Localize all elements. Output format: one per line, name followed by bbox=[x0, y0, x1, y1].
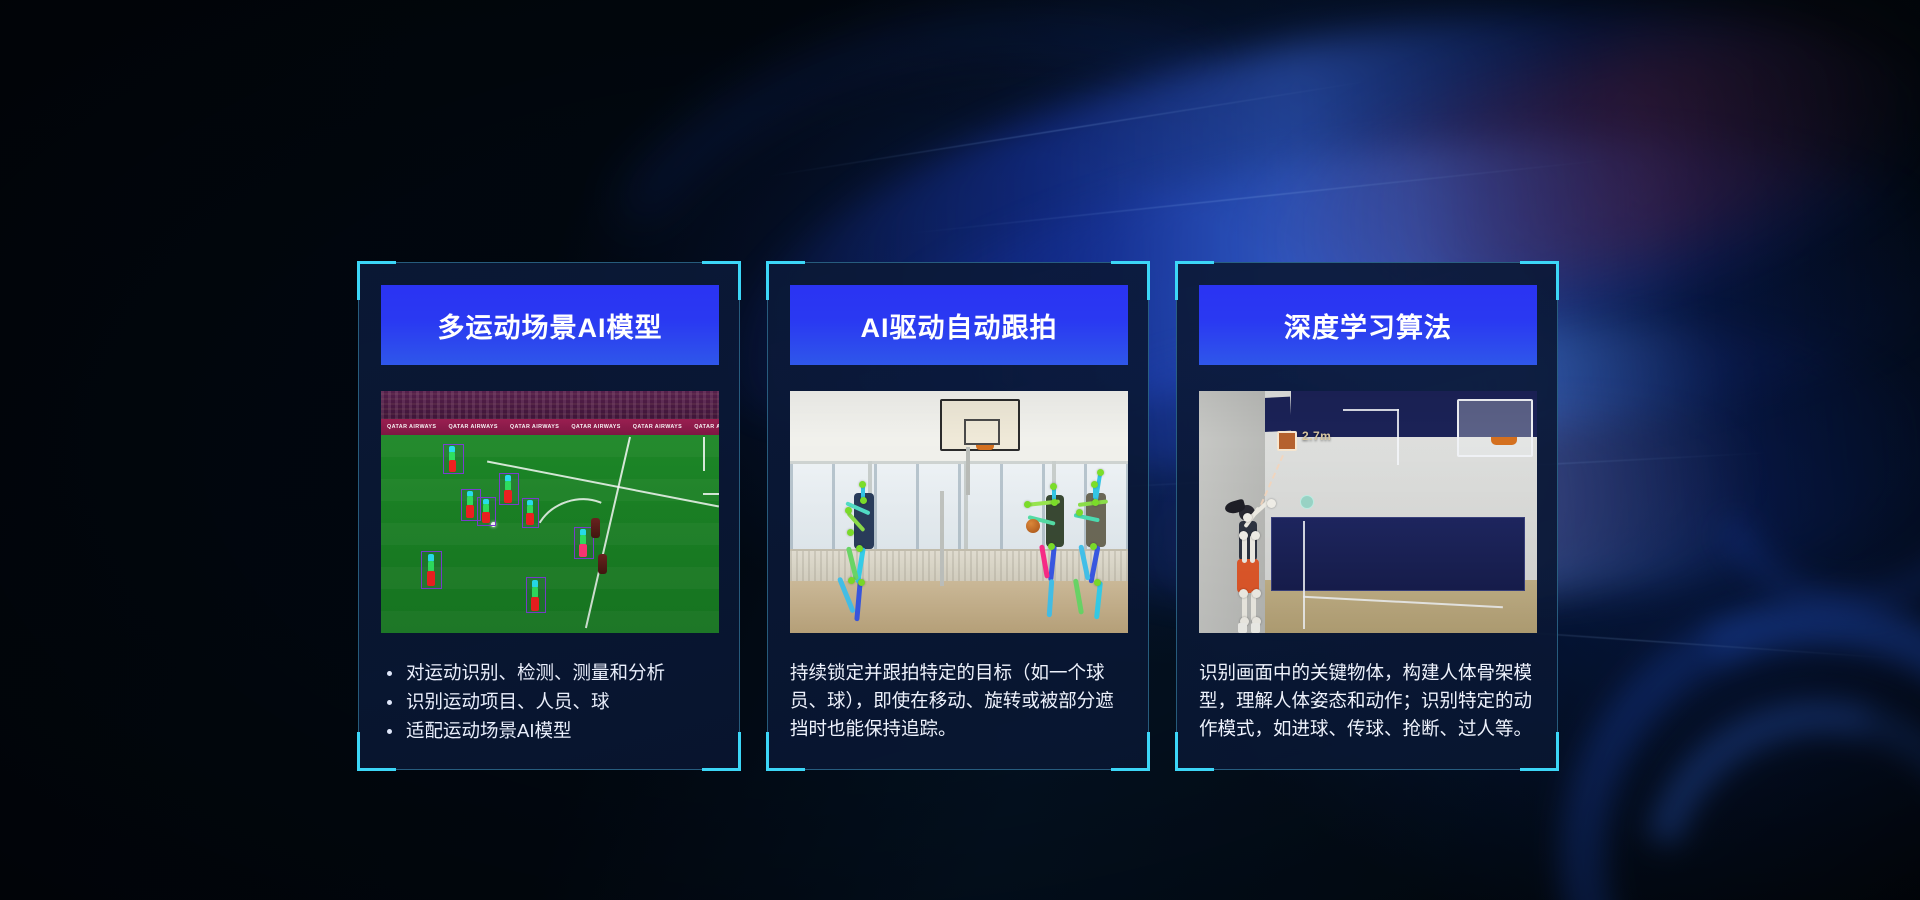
feature-bullet-list-1: 对运动识别、检测、测量和分析 识别运动项目、人员、球 适配运动场景AI模型 bbox=[381, 659, 719, 745]
sponsor-banner-text: QATAR AIRWAYS bbox=[688, 424, 719, 430]
feature-card-deep-learning-algorithm[interactable]: 深度学习算法 2.7m bbox=[1176, 262, 1558, 770]
sponsor-banner-text: QATAR AIRWAYS bbox=[381, 424, 442, 430]
sponsor-banner-text: QATAR AIRWAYS bbox=[442, 424, 503, 430]
pose-skeleton-shooter bbox=[1227, 495, 1279, 631]
undetected-player bbox=[598, 554, 607, 574]
pitch-line-box2 bbox=[703, 493, 719, 495]
list-item: 识别运动项目、人员、球 bbox=[381, 688, 719, 716]
pose-skeleton-player-a bbox=[836, 477, 896, 627]
secondary-target-marker bbox=[1300, 495, 1314, 509]
sponsor-banner: QATAR AIRWAYS QATAR AIRWAYS QATAR AIRWAY… bbox=[381, 419, 719, 435]
hoop-support-pole bbox=[940, 491, 944, 586]
undetected-player bbox=[591, 518, 600, 538]
tracking-guide-line bbox=[1397, 409, 1399, 465]
detection-box-player bbox=[522, 498, 539, 528]
feature-card-ai-auto-tracking[interactable]: AI驱动自动跟拍 bbox=[767, 262, 1149, 770]
feature-paragraph-3: 识别画面中的关键物体，构建人体骨架模型，理解人体姿态和动作；识别特定的动作模式，… bbox=[1199, 659, 1537, 743]
basketball-ball bbox=[1026, 519, 1040, 533]
feature-card-group: 多运动场景AI模型 QATAR AIRWAYS QATAR AIRWAYS QA… bbox=[0, 0, 1920, 900]
feature-card-multi-sport-ai-model[interactable]: 多运动场景AI模型 QATAR AIRWAYS QATAR AIRWAYS QA… bbox=[358, 262, 740, 770]
basketball-backboard-3 bbox=[1457, 399, 1533, 457]
list-item: 适配运动场景AI模型 bbox=[381, 717, 719, 745]
card-body-1: 对运动识别、检测、测量和分析 识别运动项目、人员、球 适配运动场景AI模型 bbox=[381, 659, 719, 745]
tracking-guide-line bbox=[1303, 521, 1305, 629]
distance-label: 2.7m bbox=[1302, 429, 1331, 443]
sponsor-banner-text: QATAR AIRWAYS bbox=[565, 424, 626, 430]
card-media-pose-skeleton-gym bbox=[790, 391, 1128, 633]
card-media-soccer-detection: QATAR AIRWAYS QATAR AIRWAYS QATAR AIRWAY… bbox=[381, 391, 719, 633]
basketball-hoop-3 bbox=[1491, 437, 1517, 445]
detection-box-player bbox=[443, 444, 464, 474]
target-box-ball bbox=[1277, 431, 1297, 451]
detection-box-player bbox=[421, 551, 442, 589]
tracking-guide-line bbox=[1343, 409, 1399, 411]
sponsor-banner-text: QATAR AIRWAYS bbox=[504, 424, 565, 430]
wall-pad-navy bbox=[1271, 517, 1525, 591]
card-media-shot-distance-tracking: 2.7m bbox=[1199, 391, 1537, 633]
feature-paragraph-2: 持续锁定并跟拍特定的目标（如一个球员、球），即使在移动、旋转或被部分遮挡时也能保… bbox=[790, 659, 1128, 743]
card-title-1: 多运动场景AI模型 bbox=[381, 285, 719, 365]
pose-skeleton-player-c bbox=[1070, 469, 1126, 627]
basketball-backboard bbox=[940, 399, 1020, 451]
pitch-line-box bbox=[703, 437, 705, 471]
pitch-stripe bbox=[381, 611, 719, 633]
backboard-square bbox=[964, 419, 1000, 445]
card-body-2: 持续锁定并跟拍特定的目标（如一个球员、球），即使在移动、旋转或被部分遮挡时也能保… bbox=[790, 659, 1128, 743]
card-title-3: 深度学习算法 bbox=[1199, 285, 1537, 365]
hoop-support-pole bbox=[966, 447, 970, 495]
basketball-hoop bbox=[976, 445, 994, 450]
sponsor-banner-text: QATAR AIRWAYS bbox=[627, 424, 688, 430]
pitch-stripe bbox=[381, 435, 719, 457]
card-body-3: 识别画面中的关键物体，构建人体骨架模型，理解人体姿态和动作；识别特定的动作模式，… bbox=[1199, 659, 1537, 743]
detection-box-player bbox=[499, 473, 519, 505]
detection-box-player bbox=[477, 497, 496, 526]
detection-box-player bbox=[526, 577, 546, 613]
card-title-2: AI驱动自动跟拍 bbox=[790, 285, 1128, 365]
list-item: 对运动识别、检测、测量和分析 bbox=[381, 659, 719, 687]
